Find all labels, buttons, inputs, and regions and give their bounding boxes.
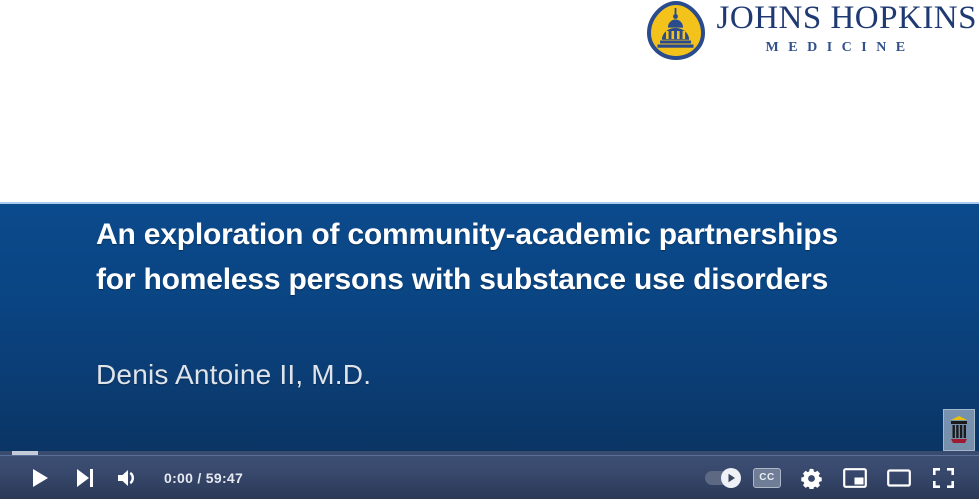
volume-icon xyxy=(117,468,139,488)
controls-left-group: 0:00 / 59:47 xyxy=(18,460,243,496)
brand-subtitle: MEDICINE xyxy=(766,40,915,56)
closed-captions-button[interactable]: CC xyxy=(745,460,789,496)
theater-mode-button[interactable] xyxy=(877,460,921,496)
johns-hopkins-medicine-logo: JOHNS HOPKINS MEDICINE xyxy=(645,1,977,65)
fullscreen-icon xyxy=(933,468,954,488)
time-display: 0:00 / 59:47 xyxy=(164,470,243,486)
slide-title-band: An exploration of community-academic par… xyxy=(0,202,979,455)
presenter-name: Denis Antoine II, M.D. xyxy=(96,359,371,391)
column-watermark-icon[interactable] xyxy=(943,409,975,451)
settings-button[interactable] xyxy=(789,460,833,496)
video-frame[interactable]: JOHNS HOPKINS MEDICINE An exploration of… xyxy=(0,0,979,455)
gear-icon xyxy=(801,468,822,489)
miniplayer-button[interactable] xyxy=(833,460,877,496)
closed-captions-icon: CC xyxy=(753,468,781,488)
next-track-icon xyxy=(75,468,94,488)
play-icon xyxy=(31,468,50,488)
toggle-knob xyxy=(721,468,741,488)
player-controls[interactable]: 0:00 / 59:47 CC xyxy=(0,455,979,499)
next-button[interactable] xyxy=(62,460,106,496)
jhu-shield-dome-icon xyxy=(645,1,707,61)
autoplay-toggle-icon xyxy=(705,470,741,486)
play-button[interactable] xyxy=(18,460,62,496)
picture-in-picture-icon xyxy=(843,468,867,488)
brand-name: JOHNS HOPKINS xyxy=(717,1,977,35)
column-glyph-icon xyxy=(949,415,969,445)
play-small-icon xyxy=(727,473,736,483)
page-title: An exploration of community-academic par… xyxy=(96,212,856,302)
volume-button[interactable] xyxy=(106,460,150,496)
logo-wordmark: JOHNS HOPKINS MEDICINE xyxy=(717,1,977,56)
controls-right-group: CC xyxy=(701,460,965,496)
video-player[interactable]: JOHNS HOPKINS MEDICINE An exploration of… xyxy=(0,0,979,499)
theater-mode-icon xyxy=(887,468,911,488)
autoplay-toggle[interactable] xyxy=(701,460,745,496)
fullscreen-button[interactable] xyxy=(921,460,965,496)
